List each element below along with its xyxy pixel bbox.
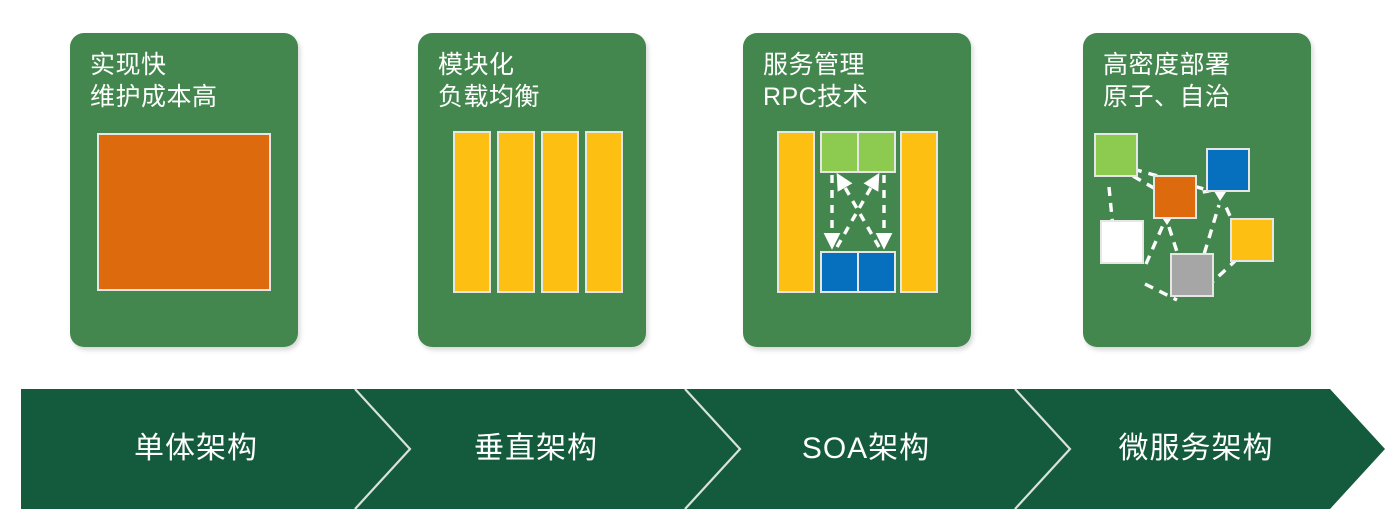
card-monolith[interactable]: 实现快维护成本高 (70, 33, 298, 347)
card-monolith-art (70, 129, 298, 329)
card-monolith-title-line2: 维护成本高 (90, 83, 218, 111)
card-monolith-title: 实现快维护成本高 (90, 49, 218, 113)
card-vertical-title: 模块化负载均衡 (438, 49, 540, 113)
card-microservice-title-line2: 原子、自治 (1103, 83, 1231, 111)
card-vertical-title-line1: 模块化 (438, 51, 515, 79)
card-microservice-title-line1: 高密度部署 (1103, 51, 1231, 79)
mesh-node-white (1100, 220, 1144, 264)
card-soa-title-line1: 服务管理 (763, 51, 865, 79)
card-soa-art (743, 129, 971, 329)
mesh-node-orange (1153, 175, 1197, 219)
process-step-monolith[interactable]: 单体架构 (21, 389, 371, 509)
card-microservice-art (1083, 129, 1311, 329)
card-soa-title: 服务管理RPC技术 (763, 49, 868, 113)
mesh-node-blue (1206, 148, 1250, 192)
card-monolith-title-line1: 实现快 (90, 51, 167, 79)
card-vertical[interactable]: 模块化负载均衡 (418, 33, 646, 347)
mesh-node-green (1094, 133, 1138, 177)
mesh-node-gray (1170, 253, 1214, 297)
soa-rpc-arrows (743, 129, 971, 329)
vertical-bar (541, 131, 579, 293)
architecture-evolution-diagram: 实现快维护成本高 模块化负载均衡 服务管理RPC技术 (0, 0, 1396, 531)
card-soa[interactable]: 服务管理RPC技术 (743, 33, 971, 347)
mesh-node-yellow (1230, 218, 1274, 262)
process-step-vertical[interactable]: 垂直架构 (371, 389, 701, 509)
process-step-microservice[interactable]: 微服务架构 (1031, 389, 1361, 509)
monolith-block (97, 133, 271, 291)
process-step-soa[interactable]: SOA架构 (701, 389, 1031, 509)
card-vertical-art (418, 129, 646, 329)
card-microservice[interactable]: 高密度部署原子、自治 (1083, 33, 1311, 347)
card-soa-title-line2: RPC技术 (763, 83, 868, 111)
vertical-bar (585, 131, 623, 293)
card-microservice-title: 高密度部署原子、自治 (1103, 49, 1231, 113)
vertical-bar (453, 131, 491, 293)
card-vertical-title-line2: 负载均衡 (438, 83, 540, 111)
vertical-bar (497, 131, 535, 293)
process-banner: 单体架构 垂直架构 SOA架构 微服务架构 (21, 389, 1385, 509)
